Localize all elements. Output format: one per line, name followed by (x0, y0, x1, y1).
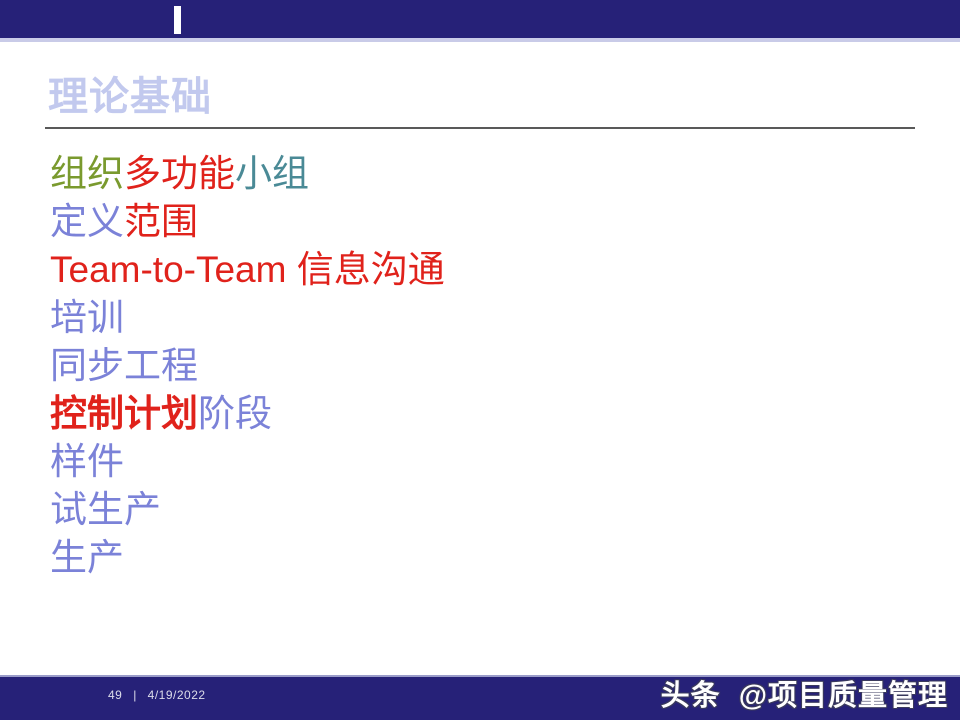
list-item-segment: 组织 (50, 153, 124, 194)
content-list: 组织多功能小组定义范围Team-to-Team 信息沟通培训同步工程控制计划阶段… (50, 150, 910, 582)
list-item: 样件 (50, 438, 910, 486)
slide-header-band (0, 0, 960, 38)
list-item-segment: 控制计划 (50, 393, 198, 434)
watermark-handle: @项目质量管理 (739, 680, 948, 712)
watermark-brand: 头条 (661, 680, 721, 712)
list-item-segment: 生产 (50, 537, 124, 578)
list-item: 生产 (50, 534, 910, 582)
page-title: 理论基础 (48, 76, 212, 118)
list-item: 培训 (50, 294, 910, 342)
list-item: 同步工程 (50, 342, 910, 390)
list-item-segment: 阶段 (198, 393, 272, 434)
list-item-segment: 小组 (235, 153, 309, 194)
list-item: Team-to-Team 信息沟通 (50, 246, 910, 294)
slide-number: 49 (108, 688, 122, 702)
list-item-segment: 培训 (50, 297, 124, 338)
footer-meta: 49 | 4/19/2022 (108, 688, 206, 702)
list-item: 定义范围 (50, 198, 910, 246)
watermark: 头条 @项目质量管理 (661, 672, 948, 714)
list-item-segment: 多功能 (124, 153, 235, 194)
title-divider (45, 127, 915, 129)
list-item: 试生产 (50, 486, 910, 534)
list-item-segment: 试生产 (50, 489, 161, 530)
list-item-segment: Team-to-Team 信息沟通 (50, 249, 445, 290)
presentation-slide: 理论基础 组织多功能小组定义范围Team-to-Team 信息沟通培训同步工程控… (0, 0, 960, 720)
list-item-segment: 同步工程 (50, 345, 198, 386)
list-item: 控制计划阶段 (50, 390, 910, 438)
header-tick-marker-icon (174, 6, 181, 34)
list-item-segment: 范围 (124, 201, 198, 242)
footer-separator: | (133, 688, 137, 702)
header-underline-accent (0, 38, 960, 42)
list-item-segment: 样件 (50, 441, 124, 482)
list-item-segment: 定义 (50, 201, 124, 242)
list-item: 组织多功能小组 (50, 150, 910, 198)
slide-date: 4/19/2022 (148, 688, 206, 702)
